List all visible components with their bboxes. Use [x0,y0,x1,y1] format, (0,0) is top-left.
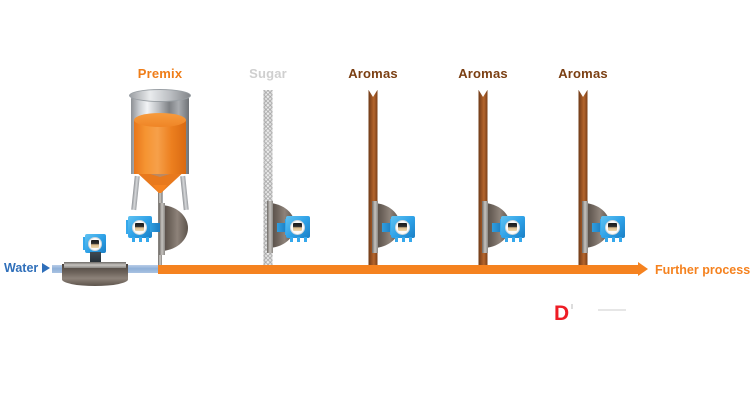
instrument-leg-a [605,237,608,242]
station-label-aroma-2: Aromas [458,66,508,81]
instrument-leg-a [132,237,135,242]
process-flow-diagram: Premix Sugar Aromas Aromas Aromas [0,0,750,410]
tank-liquid-surface [134,113,186,127]
tank-liquid [134,120,186,174]
instrument-leg-c [409,237,412,242]
instrument-display [398,223,407,231]
instrument-leg-b [512,237,515,242]
instrument-leg-c [519,237,522,242]
instrument-leg-a [290,237,293,242]
aroma-3-valve-stem [582,201,588,253]
watermark-tick-2 [598,309,626,311]
instrument-mount [90,252,101,262]
station-label-aroma-1: Aromas [348,66,398,81]
instrument-leg-c [146,237,149,242]
right-arrow-icon [638,262,648,276]
instrument-leg-b [297,237,300,242]
station-label-sugar: Sugar [249,66,287,81]
right-arrow-icon [42,263,50,273]
instrument-neck [150,223,160,232]
further-processing-label: Further processing [655,263,750,277]
instrument-display [135,223,144,231]
watermark-tick-1 [571,304,573,309]
instrument-leg-a [505,237,508,242]
station-label-premix: Premix [138,66,183,81]
aroma-2-valve-stem [482,201,488,253]
sugar-valve-stem [267,201,273,253]
tank-rim [129,89,191,102]
instrument-leg-a [395,237,398,242]
main-product-pipe [158,265,638,274]
instrument-display [608,223,617,231]
water-inlet-label: Water [4,261,38,275]
aroma-2-funnel-notch [478,89,488,97]
instrument-display [508,223,517,231]
aroma-1-valve-stem [372,201,378,253]
instrument-display [293,223,302,231]
aroma-3-funnel-notch [578,89,588,97]
watermark-letter: D [554,303,569,324]
instrument-leg-b [139,237,142,242]
instrument-leg-b [612,237,615,242]
water-valve-seat [64,262,126,268]
aroma-1-funnel-notch [368,89,378,97]
instrument-leg-c [619,237,622,242]
instrument-leg-c [304,237,307,242]
instrument-leg-b [402,237,405,242]
station-label-aroma-3: Aromas [558,66,608,81]
instrument-display [91,240,99,248]
